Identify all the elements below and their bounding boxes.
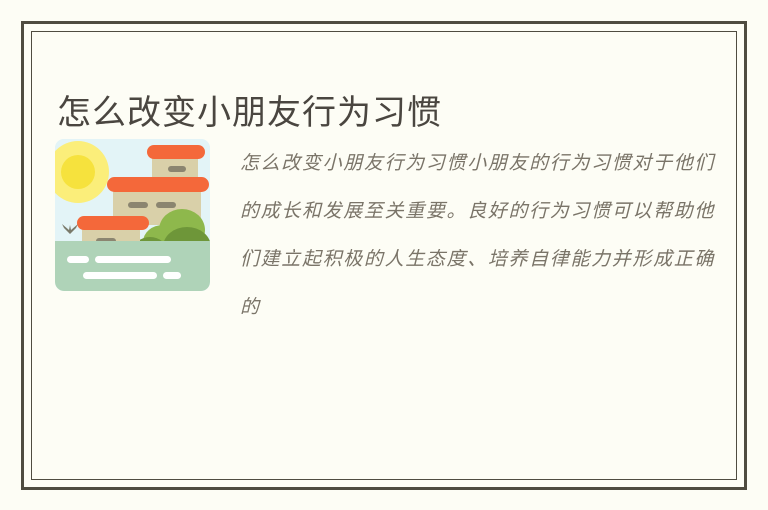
building-middle-roof	[107, 177, 209, 192]
article-content: 怎么改变小朋友行为习惯	[31, 31, 737, 480]
building-middle-window-left	[128, 202, 148, 208]
building-bottom-roof	[77, 216, 149, 230]
sun-icon	[61, 155, 95, 189]
village-landscape-illustration	[55, 139, 210, 291]
bird-icon	[61, 223, 79, 235]
caption-bar	[163, 272, 181, 279]
article-body-row: 怎么改变小朋友行为习惯小朋友的行为习惯对于他们的成长和发展至关重要。良好的行为习…	[55, 139, 715, 350]
building-top-roof	[147, 145, 205, 159]
water-caption-band	[55, 241, 210, 291]
caption-bar	[83, 272, 157, 279]
article-page: 怎么改变小朋友行为习惯	[0, 0, 768, 510]
caption-bar	[95, 256, 171, 263]
building-middle-window-right	[156, 202, 176, 208]
caption-bar	[67, 256, 89, 263]
article-body-text: 怎么改变小朋友行为习惯小朋友的行为习惯对于他们的成长和发展至关重要。良好的行为习…	[240, 89, 715, 331]
building-top-window	[168, 166, 186, 172]
